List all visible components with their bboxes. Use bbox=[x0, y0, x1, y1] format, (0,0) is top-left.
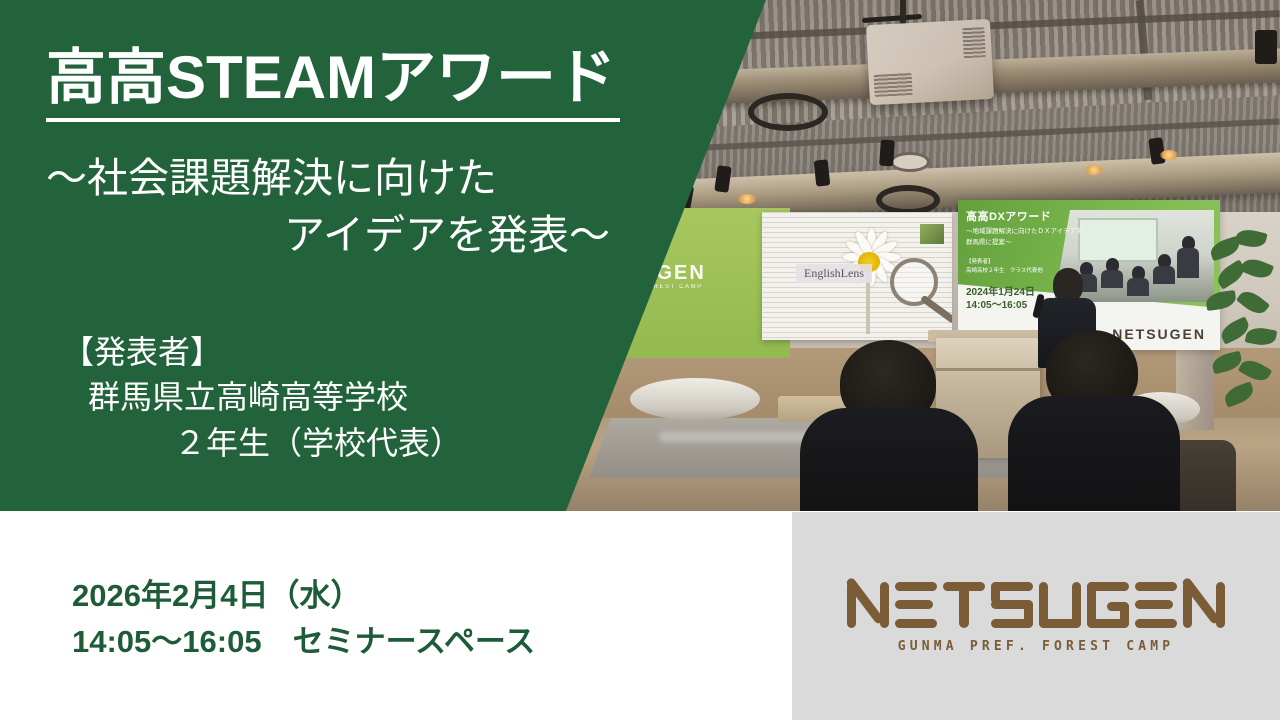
pendant-light-ring bbox=[876, 185, 940, 215]
schedule-time-place: 14:05〜16:05 セミナースペース bbox=[72, 619, 535, 665]
hero-band: UGEN FOREST CAMP bbox=[0, 0, 1280, 511]
logo-letter-e bbox=[1135, 580, 1177, 630]
slide-thumbnail bbox=[920, 224, 944, 244]
lounge-pouf bbox=[630, 378, 760, 420]
track-spotlight bbox=[1255, 30, 1277, 64]
warm-bulb-glow bbox=[738, 194, 756, 204]
presenter-grade: ２年生（学校代表） bbox=[62, 421, 462, 466]
slide-presenter bbox=[1177, 248, 1199, 278]
audience-body bbox=[1008, 396, 1180, 511]
warm-bulb-glow bbox=[1085, 165, 1103, 175]
projection-screen-left: EnglishLens bbox=[762, 212, 952, 340]
pendant-light-ring bbox=[748, 93, 828, 131]
logo-letter-e bbox=[895, 580, 937, 630]
screen-right-date: 2024年1月24日 14:05〜16:05 bbox=[966, 286, 1035, 312]
logo-letter-s bbox=[991, 580, 1033, 630]
logo-letter-t bbox=[943, 580, 985, 630]
track-spotlight bbox=[814, 159, 831, 186]
logo-letter-g bbox=[1087, 580, 1129, 630]
presenter-head bbox=[1053, 268, 1083, 302]
warm-bulb-glow bbox=[1160, 150, 1178, 160]
subtitle-line-2: アイデアを発表〜 bbox=[46, 207, 618, 264]
netsugen-wordmark bbox=[836, 578, 1236, 630]
slide-person bbox=[1101, 270, 1123, 288]
logo-panel: GUNMA PREF. FOREST CAMP bbox=[792, 512, 1280, 720]
page-subtitle: 〜社会課題解決に向けた アイデアを発表〜 bbox=[46, 150, 618, 263]
slide-whiteboard bbox=[1078, 218, 1158, 262]
netsugen-logo: GUNMA PREF. FOREST CAMP bbox=[836, 578, 1236, 654]
subtitle-line-1: 〜社会課題解決に向けた bbox=[46, 155, 497, 201]
screen-right-subtitle: 〜地域課題解決に向けたＤＸアイデアを 群馬県に提案〜 bbox=[966, 226, 1083, 248]
ceiling-projector bbox=[866, 19, 994, 105]
logo-letter-n bbox=[1183, 580, 1225, 630]
schedule-block: 2026年2月4日（水） 14:05〜16:05 セミナースペース bbox=[72, 573, 535, 665]
footer-band: 2026年2月4日（水） 14:05〜16:05 セミナースペース bbox=[0, 511, 1280, 720]
presenter-label: 【発表者】 bbox=[62, 334, 222, 370]
audience-body bbox=[800, 408, 978, 511]
presenter-school: 群馬県立高崎高等学校 bbox=[62, 375, 462, 420]
schedule-date: 2026年2月4日（水） bbox=[72, 573, 535, 619]
netsugen-tagline: GUNMA PREF. FOREST CAMP bbox=[836, 639, 1236, 654]
screen-left-title: EnglishLens bbox=[796, 264, 872, 283]
event-slide: UGEN FOREST CAMP bbox=[0, 0, 1280, 720]
screen-right-meta: 【発表者】 高崎高校２年生 クラス代表他 bbox=[966, 258, 1043, 276]
slide-person bbox=[1153, 266, 1175, 284]
track-spotlight bbox=[879, 140, 895, 167]
logo-letter-u bbox=[1039, 580, 1081, 630]
recessed-downlight bbox=[890, 152, 930, 172]
title-underline bbox=[46, 118, 620, 122]
logo-letter-n bbox=[847, 580, 889, 630]
screen-right-title: 高高DXアワード bbox=[966, 208, 1051, 224]
potted-plant bbox=[1206, 230, 1280, 420]
screen-right-logo: NETSUGEN bbox=[1112, 326, 1206, 342]
page-title: 高高STEAMアワード bbox=[46, 44, 616, 111]
presenter-block: 【発表者】 群馬県立高崎高等学校 ２年生（学校代表） bbox=[62, 330, 462, 466]
slide-person bbox=[1127, 278, 1149, 296]
